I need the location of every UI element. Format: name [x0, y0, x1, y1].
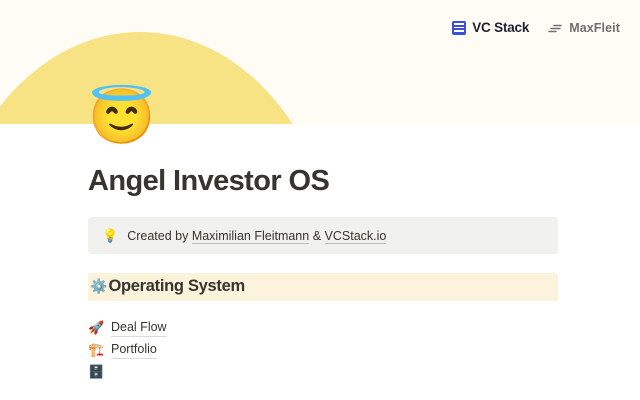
section-heading-operating-system: ⚙️ Operating System: [88, 273, 558, 301]
maxfleit-logo[interactable]: MaxFleit: [547, 21, 620, 35]
lightbulb-icon: 💡: [102, 228, 118, 244]
author-link[interactable]: Maximilian Fleitmann: [192, 229, 309, 244]
list-item[interactable]: 🏗️ Portfolio: [88, 339, 558, 361]
section-heading-label: Operating System: [108, 277, 244, 296]
page-link-list: 🚀 Deal Flow 🏗️ Portfolio 🗄️: [88, 317, 558, 383]
created-by-separator: &: [309, 229, 324, 243]
page-title: Angel Investor OS: [88, 164, 558, 199]
vcstack-logo-label: VC Stack: [472, 20, 529, 35]
brand-bar: VC Stack MaxFleit: [452, 20, 620, 35]
notion-page: VC Stack MaxFleit 😇 Angel Investor OS 💡 …: [0, 0, 640, 400]
slashed-lines-icon: [547, 22, 563, 34]
list-item[interactable]: 🚀 Deal Flow: [88, 317, 558, 339]
vcstack-link[interactable]: VCStack.io: [325, 229, 387, 244]
page-emoji-icon[interactable]: 😇: [88, 90, 155, 144]
gear-icon: ⚙️: [90, 279, 107, 293]
list-item[interactable]: 🗄️: [88, 361, 558, 383]
list-item-label: Portfolio: [111, 341, 157, 359]
cover-sun-arc: [0, 32, 340, 124]
maxfleit-logo-label: MaxFleit: [569, 21, 620, 35]
page-content: Angel Investor OS 💡 Created by Maximilia…: [88, 164, 558, 383]
vcstack-logo[interactable]: VC Stack: [452, 20, 529, 35]
created-by-prefix: Created by: [127, 229, 192, 243]
created-by-callout: 💡 Created by Maximilian Fleitmann & VCSt…: [88, 217, 558, 254]
stacked-layers-icon: [452, 21, 466, 35]
created-by-text: Created by Maximilian Fleitmann & VCStac…: [127, 228, 386, 244]
rocket-icon: 🚀: [88, 321, 104, 334]
construction-icon: 🏗️: [88, 343, 104, 356]
file-cabinet-icon: 🗄️: [88, 365, 104, 378]
list-item-label: Deal Flow: [111, 319, 167, 337]
